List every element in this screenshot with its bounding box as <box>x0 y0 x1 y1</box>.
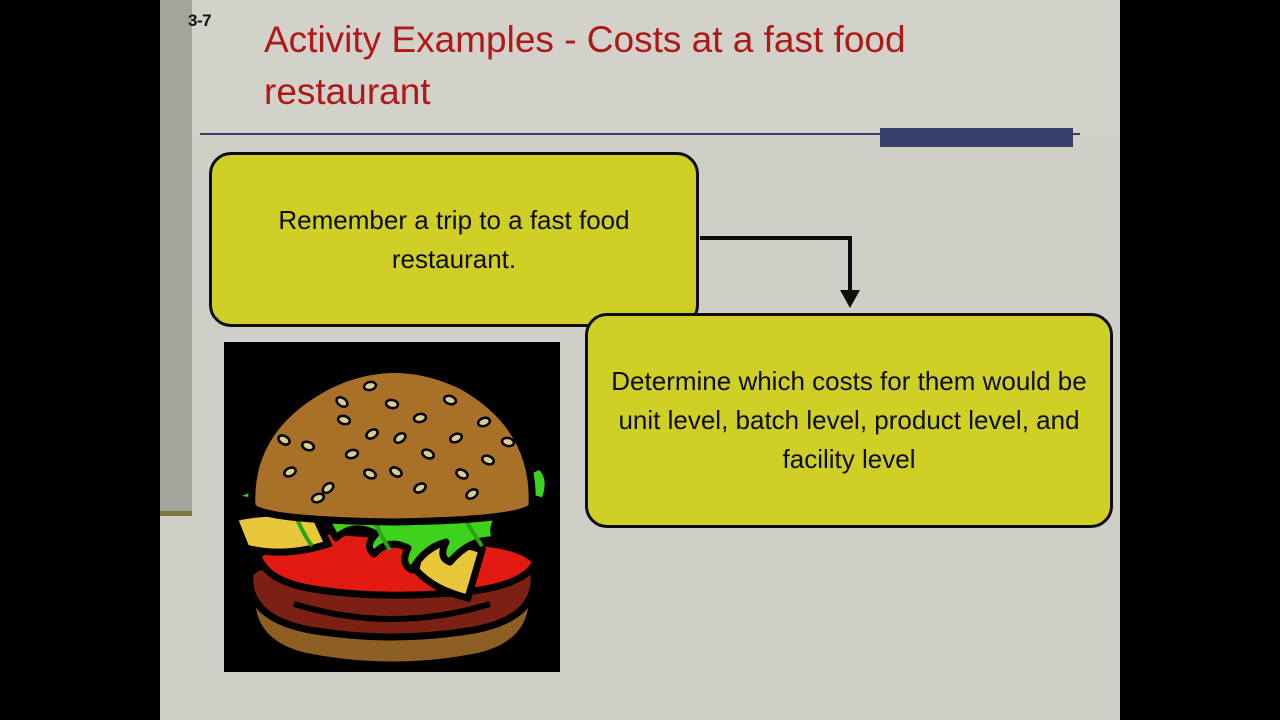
connector-arrow-head-icon <box>840 290 860 308</box>
screenshot-root: 3-7 Activity Examples - Costs at a fast … <box>0 0 1280 720</box>
slide-side-band <box>160 0 192 513</box>
remember-trip-callout: Remember a trip to a fast food restauran… <box>209 152 699 327</box>
determine-costs-callout-text: Determine which costs for them would be … <box>588 362 1110 479</box>
presentation-slide: 3-7 Activity Examples - Costs at a fast … <box>160 0 1120 720</box>
connector-arrow-vertical-segment <box>848 236 852 294</box>
title-accent-block <box>880 128 1073 147</box>
page-title: Activity Examples - Costs at a fast food… <box>264 14 1074 118</box>
connector-arrow-horizontal-segment <box>700 236 852 240</box>
hamburger-clipart <box>224 342 560 672</box>
slide-number: 3-7 <box>188 11 211 31</box>
slide-side-band-cap <box>160 511 192 516</box>
hamburger-illustration <box>224 342 560 672</box>
remember-trip-callout-text: Remember a trip to a fast food restauran… <box>212 201 696 279</box>
determine-costs-callout: Determine which costs for them would be … <box>585 313 1113 528</box>
